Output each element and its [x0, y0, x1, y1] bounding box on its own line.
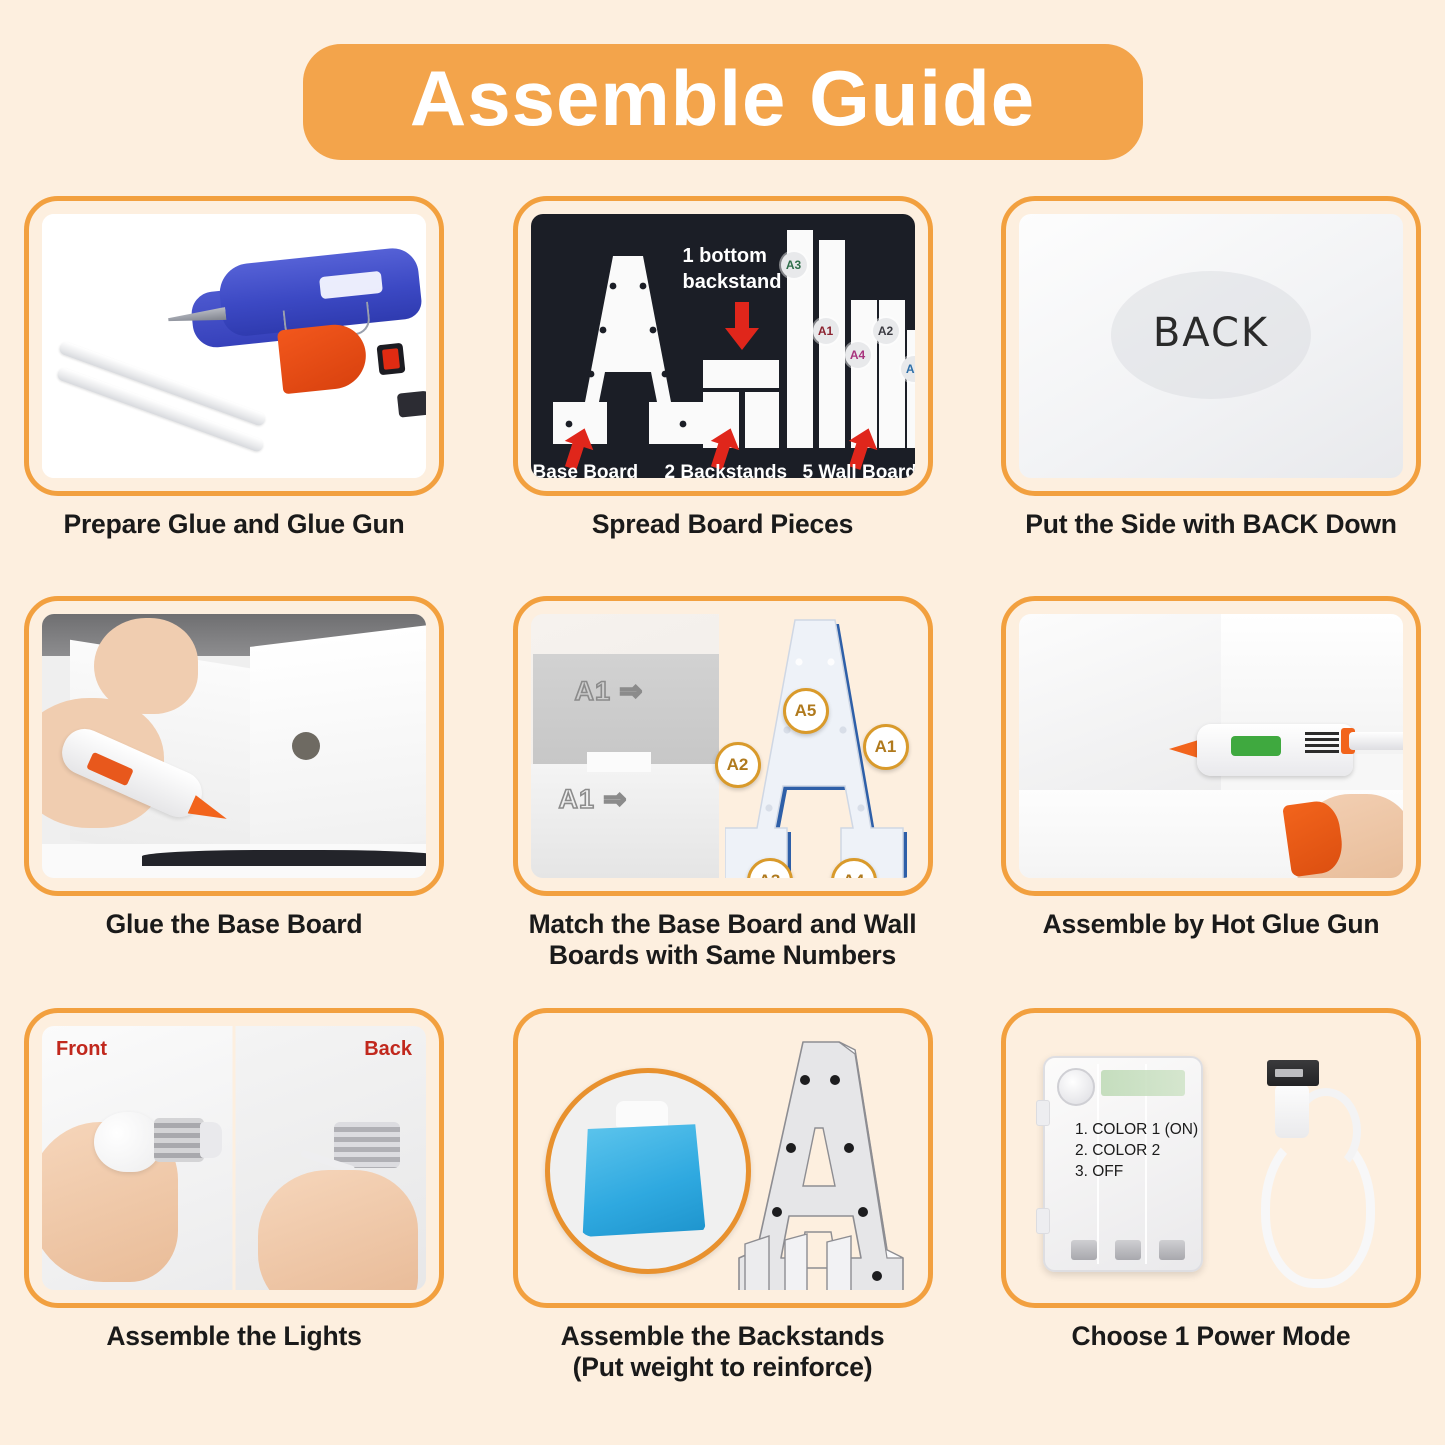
- back-board-photo: BACK: [1019, 214, 1403, 478]
- emboss-mark-a1-top: A1 ⇒: [575, 676, 644, 707]
- step-card-7: Front Back Assemble the Lights: [24, 1008, 444, 1428]
- step-6-image-frame: [1001, 596, 1421, 896]
- backstands-photo: [531, 1026, 915, 1290]
- water-bag-handle-icon: [616, 1101, 668, 1127]
- board-right: [250, 625, 426, 862]
- step-9-caption: Choose 1 Power Mode: [991, 1321, 1431, 1352]
- step-4-caption: Glue the Base Board: [14, 909, 454, 940]
- hot-glue-gun-photo: [1019, 614, 1403, 878]
- badge-a2: A2: [715, 742, 761, 788]
- usb-cable-icon: [1245, 1054, 1377, 1278]
- photo-divider: [233, 1026, 236, 1290]
- step-2-caption: Spread Board Pieces: [503, 509, 943, 540]
- page-header: Assemble Guide: [0, 44, 1445, 160]
- step-5-caption: Match the Base Board and Wall Boards wit…: [503, 909, 943, 971]
- badge-a5: A5: [783, 688, 829, 734]
- step-card-6: Assemble by Hot Glue Gun: [1001, 596, 1421, 1008]
- note-arrow-icon: [719, 302, 759, 350]
- glue-stick-icon: [1349, 732, 1403, 750]
- glue-gun-label-icon: [1231, 736, 1281, 756]
- page-title: Assemble Guide: [373, 58, 1073, 140]
- water-bag-callout-circle: [545, 1068, 751, 1274]
- assemble-lights-photo: Front Back: [42, 1026, 426, 1290]
- water-bag-icon: [578, 1117, 706, 1237]
- step-7-image-frame: Front Back: [24, 1008, 444, 1308]
- usb-connector-neck: [1275, 1084, 1309, 1138]
- wall-board-sample: [533, 654, 723, 764]
- step-8-caption-line-1: Assemble the Backstands: [503, 1321, 943, 1352]
- step-4-image-frame: [24, 596, 444, 896]
- step-5-caption-line-1: Match the Base Board and Wall: [503, 909, 943, 940]
- battery-cells: [1053, 1214, 1193, 1260]
- step-3-caption: Put the Side with BACK Down: [991, 509, 1431, 540]
- hand-icon: [258, 1170, 418, 1290]
- step-1-image-frame: [24, 196, 444, 496]
- base-board-letter-a-icon: [553, 252, 703, 450]
- back-board-text: BACK: [1153, 310, 1269, 356]
- power-mode-option-1: 1. COLOR 1 (ON): [1075, 1120, 1198, 1141]
- base-board-sample: [531, 764, 727, 878]
- glue-gun-vents-icon: [1305, 732, 1339, 754]
- step-card-4: Glue the Base Board: [24, 596, 444, 1008]
- front-label: Front: [56, 1038, 107, 1061]
- wall-board-a4: [851, 300, 877, 448]
- title-banner: Assemble Guide: [303, 44, 1143, 160]
- power-mode-photo: 1. COLOR 1 (ON) 2. COLOR 2 3. OFF: [1019, 1026, 1403, 1290]
- steps-row-2: Glue the Base Board A1 ⇒ A1 ⇒: [0, 596, 1445, 1008]
- badge-a4: A4: [845, 342, 871, 368]
- steps-grid: Prepare Glue and Glue Gun: [0, 196, 1445, 1428]
- glue-gun-power-switch-icon: [377, 343, 406, 376]
- step-card-8: Assemble the Backstands (Put weight to r…: [513, 1008, 933, 1428]
- badge-a2: A2: [873, 318, 899, 344]
- step-3-image-frame: BACK: [1001, 196, 1421, 496]
- step-8-image-frame: [513, 1008, 933, 1308]
- step-1-caption: Prepare Glue and Glue Gun: [14, 509, 454, 540]
- front-view-photo: Front: [42, 1026, 234, 1290]
- step-8-caption: Assemble the Backstands (Put weight to r…: [503, 1321, 943, 1383]
- bulb-screw-base-icon: [154, 1118, 204, 1162]
- step-card-5: A1 ⇒ A1 ⇒: [513, 596, 933, 1008]
- power-mode-list: 1. COLOR 1 (ON) 2. COLOR 2 3. OFF: [1075, 1120, 1198, 1182]
- badge-a1: A1: [863, 724, 909, 770]
- badge-a3: A3: [781, 252, 807, 278]
- battery-box-switch-icon[interactable]: [1057, 1068, 1095, 1106]
- step-2-image-frame: A3 A1 A2 A4 A5: [513, 196, 933, 496]
- label-base-board: Base Board: [533, 462, 639, 478]
- backstand-piece: [745, 392, 779, 448]
- embossed-boards-photo: A1 ⇒ A1 ⇒: [531, 614, 729, 878]
- emboss-mark-a1-bottom: A1 ⇒: [559, 784, 628, 815]
- step-5-caption-line-2: Boards with Same Numbers: [503, 940, 943, 971]
- step-8-caption-line-2: (Put weight to reinforce): [503, 1352, 943, 1383]
- usb-plug-icon: [1267, 1060, 1319, 1086]
- battery-box-clip-top: [1036, 1100, 1050, 1126]
- wall-board-a1: [819, 240, 845, 448]
- power-mode-option-2: 2. COLOR 2: [1075, 1141, 1198, 1162]
- bulb-hole-icon: [292, 732, 320, 760]
- board-pieces-diagram: A3 A1 A2 A4 A5: [531, 214, 915, 478]
- power-mode-option-3: 3. OFF: [1075, 1162, 1198, 1183]
- step-5-image-frame: A1 ⇒ A1 ⇒: [513, 596, 933, 896]
- step-6-caption: Assemble by Hot Glue Gun: [991, 909, 1431, 940]
- bulb-contact-icon: [200, 1122, 222, 1158]
- step-7-caption: Assemble the Lights: [14, 1321, 454, 1352]
- board-surface-left: [1019, 614, 1221, 790]
- bulb-socket-icon: [334, 1122, 400, 1168]
- step-card-3: BACK Put the Side with BACK Down: [1001, 196, 1421, 596]
- bottom-backstand-note-line-1: 1 bottom: [683, 244, 767, 268]
- letter-a-assembled-photo: A5 A2 A1 A3 A4: [719, 614, 915, 878]
- table-shadow: [142, 850, 426, 866]
- battery-box-clip-bottom: [1036, 1208, 1050, 1234]
- backstand-piece: [703, 360, 779, 388]
- circuit-board-icon: [1101, 1070, 1185, 1096]
- steps-row-1: Prepare Glue and Glue Gun: [0, 196, 1445, 596]
- step-9-image-frame: 1. COLOR 1 (ON) 2. COLOR 2 3. OFF: [1001, 1008, 1421, 1308]
- glue-gun-cord-cap-icon: [397, 390, 426, 417]
- match-numbers-photo: A1 ⇒ A1 ⇒: [531, 614, 915, 878]
- step-card-1: Prepare Glue and Glue Gun: [24, 196, 444, 596]
- glue-base-board-photo: [42, 614, 426, 878]
- step-card-9: 1. COLOR 1 (ON) 2. COLOR 2 3. OFF: [1001, 1008, 1421, 1428]
- label-wall-boards: 5 Wall Boards: [803, 462, 915, 478]
- glue-gun-photo: [42, 214, 426, 478]
- bulb-glass-icon: [94, 1112, 160, 1172]
- back-label: Back: [364, 1038, 412, 1061]
- back-view-photo: Back: [234, 1026, 426, 1290]
- badge-a1: A1: [813, 318, 839, 344]
- battery-box-icon: 1. COLOR 1 (ON) 2. COLOR 2 3. OFF: [1043, 1056, 1203, 1272]
- letter-a-with-backstands-icon: [727, 1036, 909, 1290]
- wall-board-a5: [907, 330, 915, 448]
- bottom-backstand-note-line-2: backstand: [683, 270, 782, 294]
- step-card-2: A3 A1 A2 A4 A5: [513, 196, 933, 596]
- steps-row-3: Front Back Assemble the Lights: [0, 1008, 1445, 1428]
- board-tab-icon: [587, 752, 651, 772]
- label-backstands: 2 Backstands: [665, 462, 788, 478]
